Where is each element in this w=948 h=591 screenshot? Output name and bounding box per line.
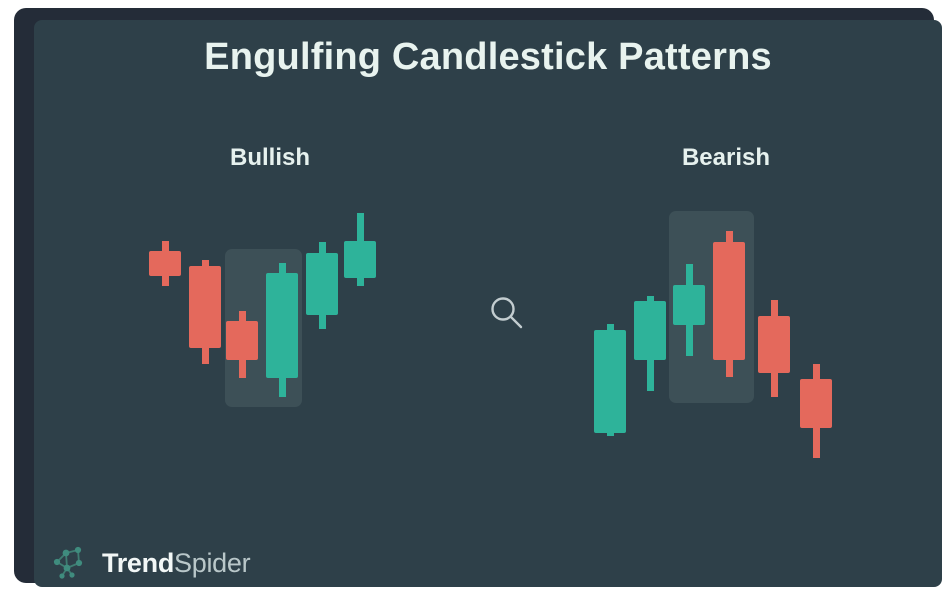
logo-wordmark: TrendSpider: [102, 548, 250, 579]
image-frame: Engulfing Candlestick Patterns Bullish B…: [0, 0, 948, 591]
candlestick-bullish-3: [266, 263, 298, 397]
search-icon[interactable]: [486, 292, 528, 334]
candlestick-bullish-1: [189, 260, 221, 364]
logo-brand-bold: Trend: [102, 548, 174, 578]
candlestick-bullish-4: [306, 242, 338, 329]
candle-body: [594, 330, 626, 433]
candle-body: [673, 285, 705, 325]
candle-body: [800, 379, 832, 428]
candlestick-bullish-5: [344, 213, 376, 286]
candle-body: [713, 242, 745, 360]
network-nodes-icon: [48, 541, 94, 585]
candlestick-bearish-5: [800, 364, 832, 458]
candlestick-bearish-2: [673, 264, 705, 356]
screen-bezel: Engulfing Candlestick Patterns Bullish B…: [14, 8, 934, 583]
candlestick-bearish-4: [758, 300, 790, 397]
candlestick-bullish-0: [149, 241, 181, 286]
candle-body: [634, 301, 666, 360]
candle-body: [226, 321, 258, 360]
candle-body: [189, 266, 221, 348]
candle-body: [149, 251, 181, 276]
candlestick-bullish-2: [226, 311, 258, 378]
trendspider-logo: TrendSpider: [48, 541, 250, 585]
candlestick-bearish-1: [634, 296, 666, 391]
candle-body: [344, 241, 376, 278]
candle-body: [266, 273, 298, 378]
candle-body: [758, 316, 790, 373]
candlestick-bearish-0: [594, 324, 626, 436]
slide-canvas: Engulfing Candlestick Patterns Bullish B…: [34, 20, 942, 587]
logo-brand-light: Spider: [174, 548, 250, 578]
candlestick-bearish-3: [713, 231, 745, 377]
candle-body: [306, 253, 338, 315]
